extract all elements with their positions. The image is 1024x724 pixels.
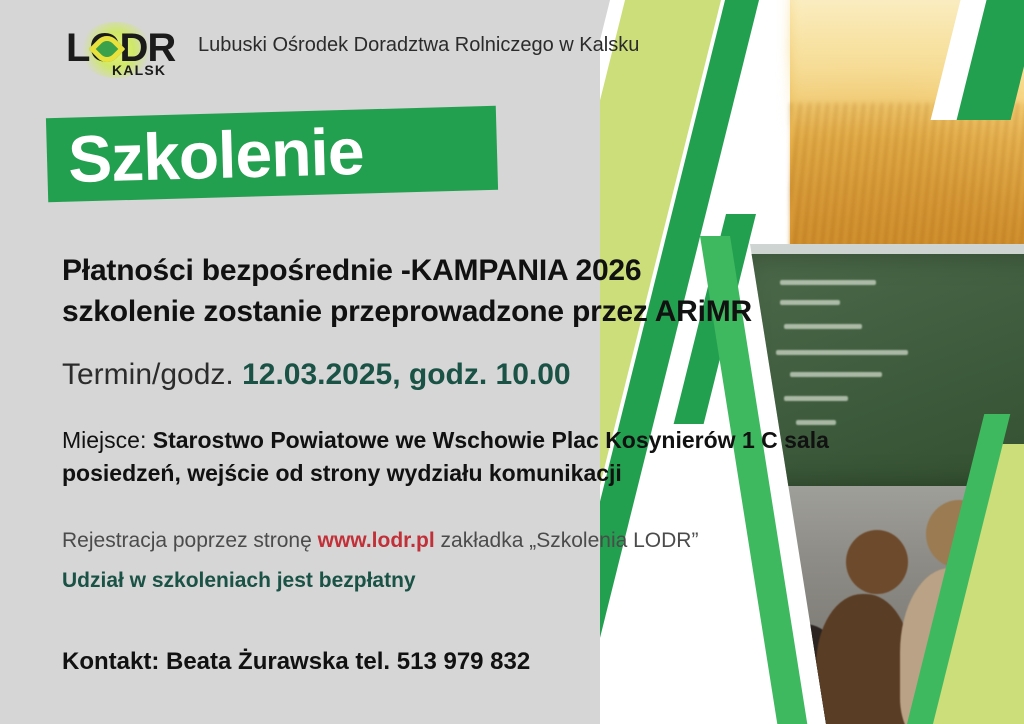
venue-row: Miejsce: Starostwo Powiatowe we Wschowie… [62, 424, 832, 490]
organisation-name: Lubuski Ośrodek Doradztwa Rolniczego w K… [198, 34, 639, 57]
registration-link[interactable]: www.lodr.pl [318, 529, 435, 552]
decorative-art-zone [600, 0, 1024, 724]
headline: Płatności bezpośrednie -KAMPANIA 2026 sz… [62, 250, 852, 332]
logo-location: KALSK [112, 62, 166, 78]
banner-title: Szkolenie [67, 114, 364, 196]
headline-line-1: Płatności bezpośrednie -KAMPANIA 2026 [62, 250, 852, 291]
date-time-label: Termin/godz. [62, 358, 242, 391]
training-poster: LODR KALSK Lubuski Ośrodek Doradztwa Rol… [0, 0, 1024, 724]
venue-label: Miejsce: [62, 427, 153, 453]
venue-value: Starostwo Powiatowe we Wschowie Plac Kos… [62, 427, 829, 486]
registration-prefix: Rejestracja poprzez stronę [62, 529, 318, 552]
date-time-value: 12.03.2025, godz. 10.00 [242, 358, 571, 391]
registration-suffix: zakładka „Szkolenia LODR” [435, 529, 699, 552]
free-participation-note: Udział w szkoleniach jest bezpłatny [62, 569, 416, 593]
lodr-logo: LODR KALSK [60, 20, 180, 82]
contact-row: Kontakt: Beata Żurawska tel. 513 979 832 [62, 648, 530, 676]
headline-line-2: szkolenie zostanie przeprowadzone przez … [62, 291, 852, 332]
date-time-row: Termin/godz. 12.03.2025, godz. 10.00 [62, 358, 571, 392]
registration-row: Rejestracja poprzez stronę www.lodr.pl z… [62, 529, 698, 553]
